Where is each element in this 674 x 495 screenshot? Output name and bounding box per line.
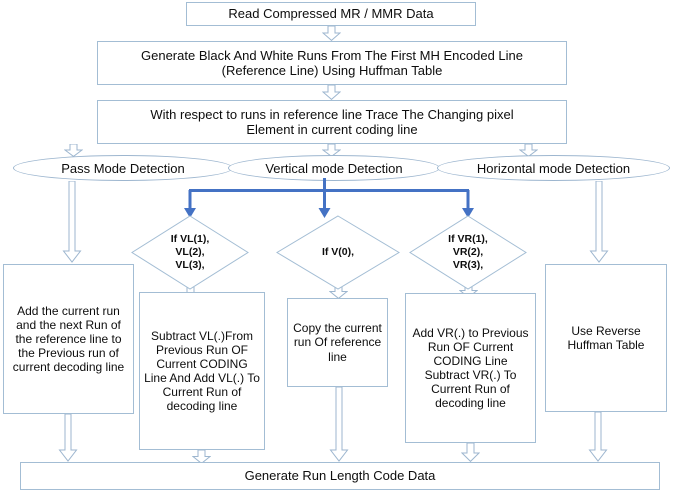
node-decision-vr-line2: VR(2), [448, 246, 488, 259]
node-trace-changing-pixel-line1: With respect to runs in reference line T… [150, 107, 513, 122]
arrow-generate-to-trace [322, 85, 341, 100]
node-generate-runs-line1: Generate Black And White Runs From The F… [141, 48, 523, 63]
blue-connector-vertical-to-decisions [180, 178, 480, 220]
arrow-horizontal-action-to-output [588, 412, 608, 462]
node-vl-action-label: Subtract VL(.)From Previous Run OF Curre… [144, 329, 260, 414]
node-decision-vl: If VL(1), VL(2), VL(3), [131, 215, 249, 290]
node-vr-action: Add VR(.) to Previous Run OF Current COD… [405, 293, 536, 443]
node-pass-action: Add the current run and the next Run of … [3, 264, 134, 414]
node-decision-vr: If VR(1), VR(2), VR(3), [409, 215, 527, 290]
node-pass-mode-detection-label: Pass Mode Detection [61, 161, 185, 176]
node-horizontal-action: Use Reverse Huffman Table [545, 264, 667, 412]
node-generate-runs-line2: (Reference Line) Using Huffman Table [222, 63, 443, 78]
node-decision-vr-line1: If VR(1), [448, 233, 488, 246]
arrow-v0-action-to-output [329, 387, 349, 462]
arrow-pass-mode-to-action [62, 181, 82, 263]
node-horizontal-action-label: Use Reverse Huffman Table [551, 324, 661, 352]
node-generate-run-length-code: Generate Run Length Code Data [20, 462, 660, 490]
node-read-compressed-data-label: Read Compressed MR / MMR Data [228, 6, 433, 21]
node-trace-changing-pixel-line2: Element in current coding line [246, 122, 417, 137]
arrow-vr-action-to-output [461, 443, 480, 462]
arrow-read-to-generate [322, 26, 341, 41]
node-trace-changing-pixel: With respect to runs in reference line T… [97, 100, 567, 144]
node-decision-v0-line1: If V(0), [322, 246, 354, 259]
node-decision-vl-line1: If VL(1), [171, 233, 210, 246]
node-v0-action-label: Copy the current run Of reference line [292, 321, 383, 363]
node-decision-vl-line3: VL(3), [171, 259, 210, 272]
node-horizontal-mode-detection-label: Horizontal mode Detection [477, 161, 630, 176]
node-vertical-mode-detection-label: Vertical mode Detection [265, 161, 402, 176]
node-vl-action: Subtract VL(.)From Previous Run OF Curre… [139, 292, 265, 450]
node-pass-action-label: Add the current run and the next Run of … [8, 304, 129, 375]
node-read-compressed-data: Read Compressed MR / MMR Data [186, 2, 476, 26]
node-generate-runs: Generate Black And White Runs From The F… [97, 41, 567, 85]
flowchart-canvas: Read Compressed MR / MMR Data Generate B… [0, 0, 674, 495]
node-decision-vr-line3: VR(3), [448, 259, 488, 272]
node-decision-v0: If V(0), [276, 215, 400, 290]
node-vr-action-label: Add VR(.) to Previous Run OF Current COD… [410, 326, 531, 411]
arrow-pass-action-to-output [58, 414, 78, 462]
node-decision-vl-line2: VL(2), [171, 246, 210, 259]
node-generate-run-length-code-label: Generate Run Length Code Data [245, 468, 436, 483]
arrow-horizontal-mode-to-action [589, 181, 609, 263]
node-v0-action: Copy the current run Of reference line [287, 298, 388, 387]
